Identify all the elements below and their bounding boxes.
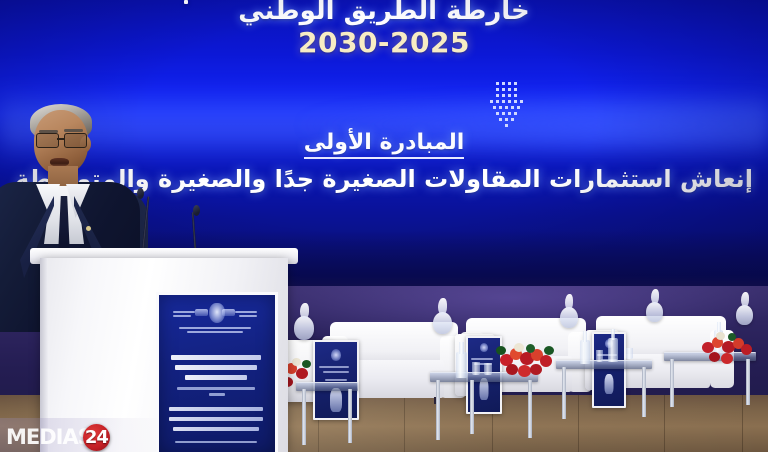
watermark-brand-text: MEDIAS [6,425,92,449]
flower-bouquet-2 [698,330,754,366]
podium-sign-headline-line-1 [171,355,261,360]
podium-sign-subline [177,387,255,390]
drinking-glass-2 [484,363,492,375]
podium-sign-tifinagh-line-2 [169,417,263,421]
podium-left-edge [40,258,48,452]
conference-photograph: خارطة الطريق الوطني 2030-2025 [0,0,768,452]
podium-sign-tifinagh-line-1 [169,407,263,411]
decor-vase-2 [433,312,452,334]
decor-vase-3-spire [565,294,573,310]
drinking-glass-3 [596,350,603,362]
decor-vase-1-spire [300,303,309,319]
podium-sign-tifinagh-line-3 [173,427,259,431]
microphone-head-1 [137,188,144,199]
watermark-brand-number: 24 [85,427,108,448]
speaker-eyeglasses [36,133,88,146]
water-bottle-1 [456,352,467,378]
speaker-lapel-pin [86,226,91,231]
sofa-seat-1 [344,360,444,398]
decor-vase-5 [736,305,753,325]
glass-table-2 [556,360,652,369]
flower-bouquet-1 [494,340,556,380]
drinking-glass-1 [472,362,480,375]
decor-vase-4-spire [651,289,659,304]
podium-sign-headline-line-2 [175,365,257,370]
decor-vase-1 [294,316,314,340]
drinking-glass-4 [626,348,633,359]
watermark-badge: 24 [83,424,110,451]
decor-vase-2-spire [438,298,447,315]
decor-vase-5-spire [741,292,749,307]
microphone-head-2 [193,205,200,216]
medias24-watermark: MEDIAS 24 [6,424,110,450]
podium-sign [156,292,278,452]
decor-vase-4 [646,302,663,322]
side-panel-1 [313,340,359,420]
decor-vase-3 [560,307,578,328]
water-bottle-2 [580,340,590,364]
water-bottle-3 [608,338,618,362]
side-panel-3 [184,0,188,4]
podium-sign-footer [175,441,257,443]
podium-sign-headline-line-3 [185,375,247,380]
